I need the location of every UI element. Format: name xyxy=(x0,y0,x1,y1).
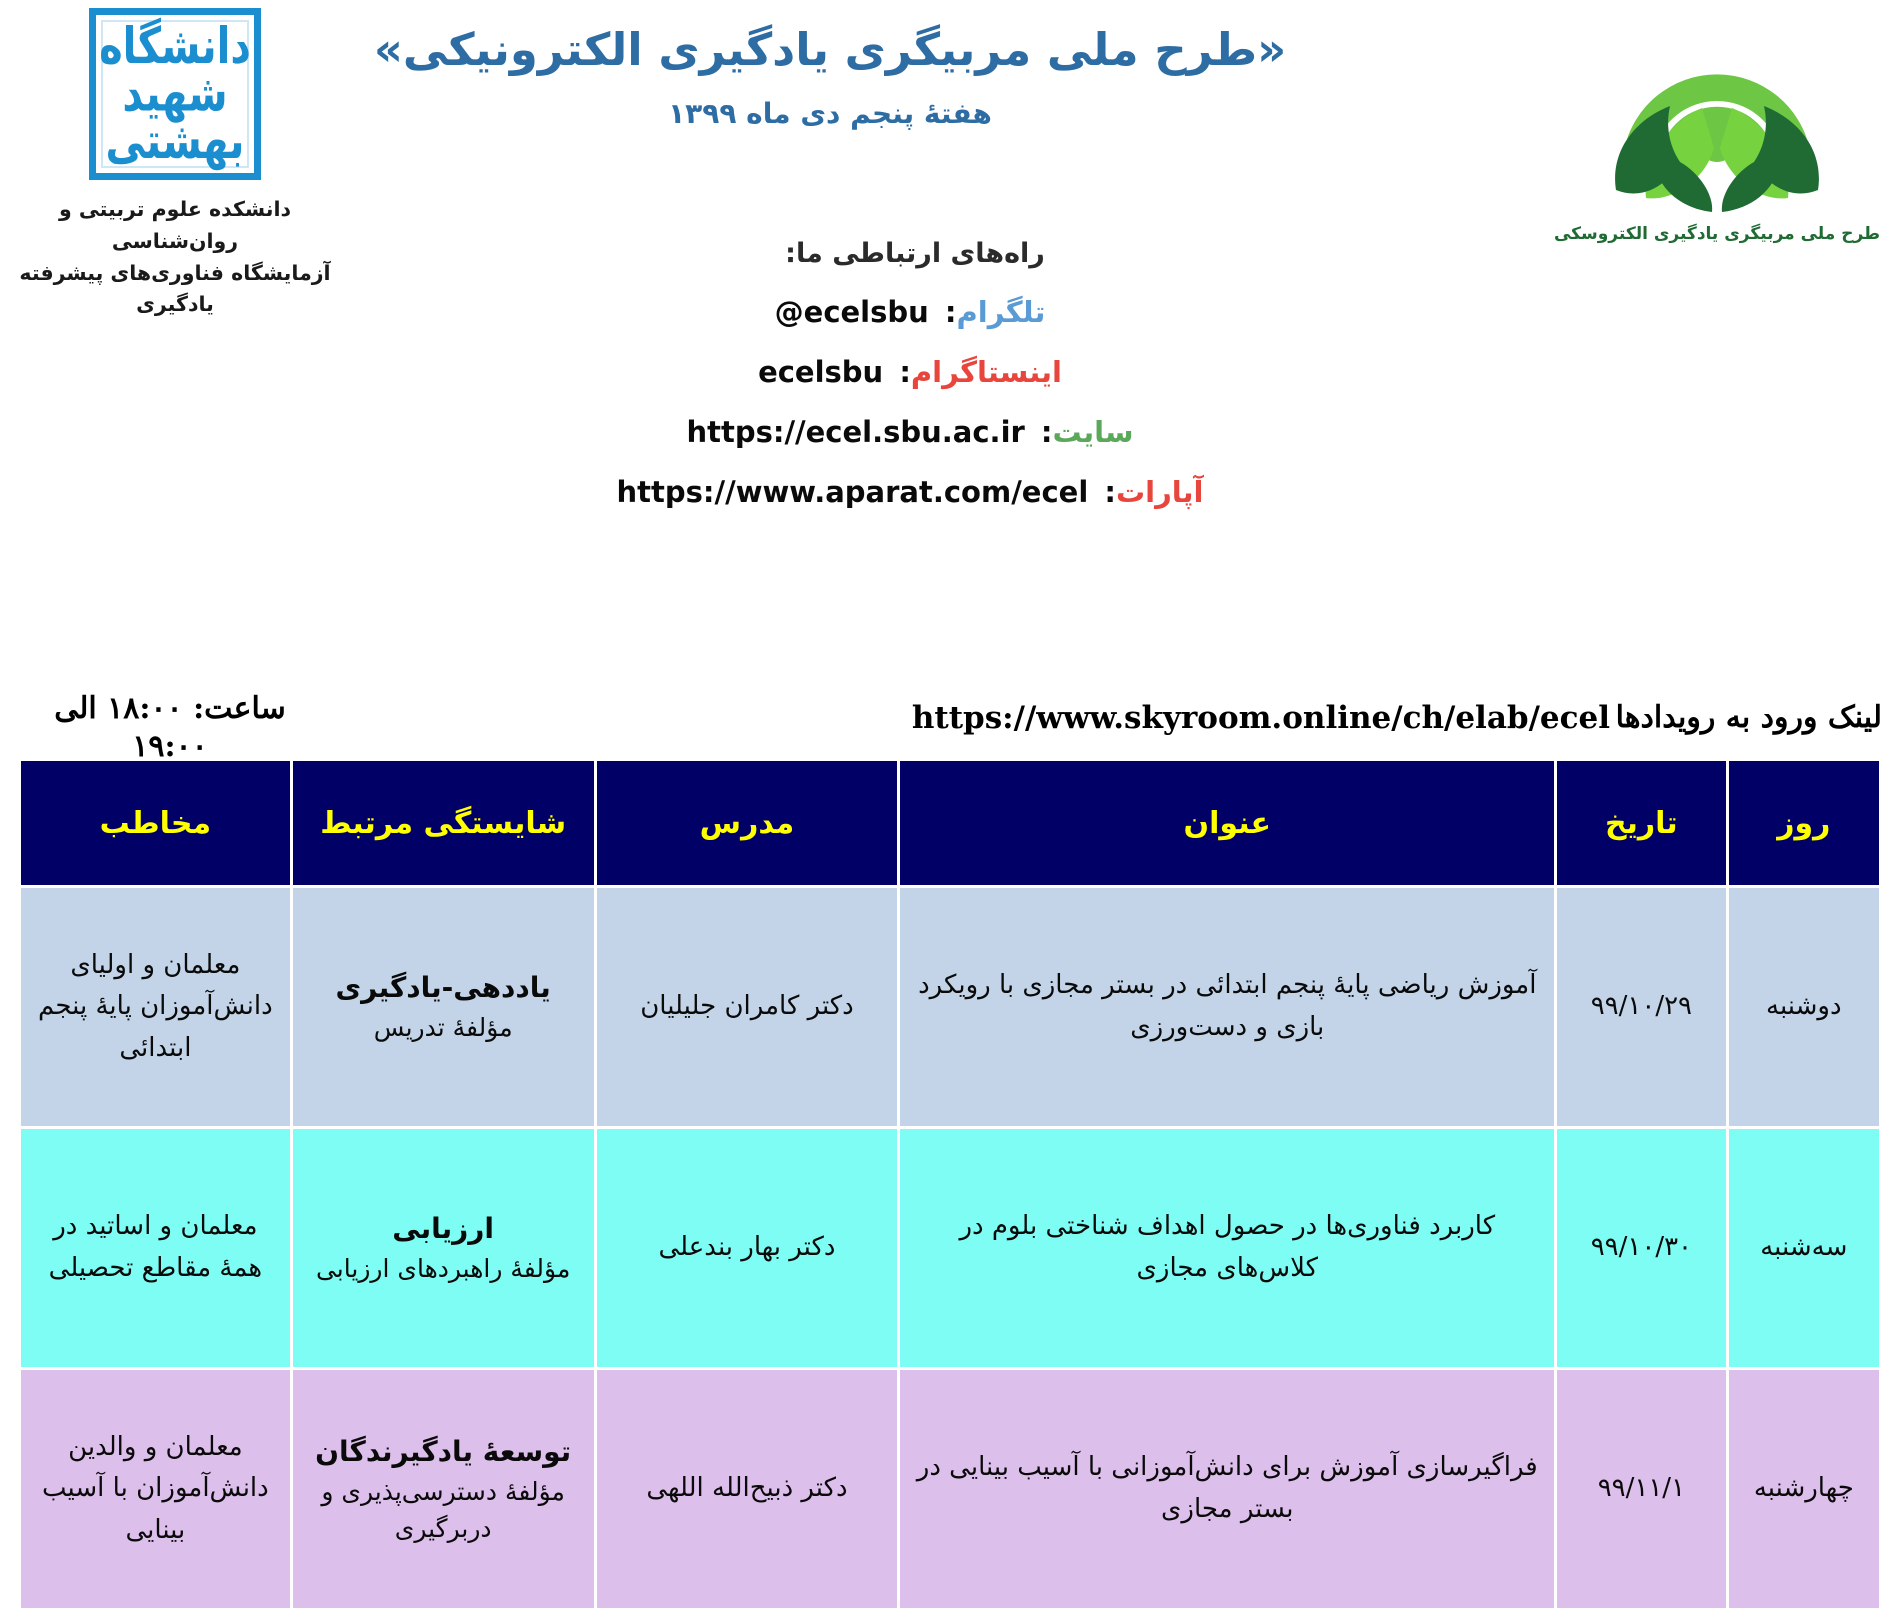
event-link-label: لینک ورود به رویدادها xyxy=(1616,700,1882,735)
sbu-logo-calligraphy: دانشگاه شهید بهشتی xyxy=(101,20,249,168)
cell-audience: معلمان و اساتید در همۀ مقاطع تحصیلی xyxy=(21,1129,290,1367)
cell-title: کاربرد فناوری‌ها در حصول اهداف شناختی بل… xyxy=(900,1129,1554,1367)
sbu-logo-icon: دانشگاه شهید بهشتی xyxy=(89,8,261,180)
cell-competency: یاددهی-یادگیری مؤلفۀ تدریس xyxy=(293,888,594,1126)
contact-row-instagram: اینستاگرام: ecelsbu xyxy=(0,355,1900,389)
cell-competency: ارزیابی مؤلفۀ راهبردهای ارزیابی xyxy=(293,1129,594,1367)
contact-block: راه‌های ارتباطی ما: تلگرام: @ecelsbu این… xyxy=(0,238,1900,509)
cell-title: آموزش ریاضی پایۀ پنجم ابتدائی در بستر مج… xyxy=(900,888,1554,1126)
table-row: دوشنبه ۹۹/۱۰/۲۹ آموزش ریاضی پایۀ پنجم اب… xyxy=(21,888,1879,1126)
contact-sep-instagram: : xyxy=(899,355,911,389)
ecel-logo-icon xyxy=(1594,12,1840,218)
event-time: ساعت: ۱۸:۰۰ الی ۱۹:۰۰ xyxy=(20,690,320,765)
page-subtitle: هفتۀ پنجم دی ماه ۱۳۹۹ xyxy=(360,97,1300,130)
competency-sub: مؤلفۀ راهبردهای ارزیابی xyxy=(305,1250,582,1288)
contact-label-instagram: اینستاگرام xyxy=(911,355,1062,389)
poster-header: دانشگاه شهید بهشتی دانشکده علوم تربیتی و… xyxy=(0,0,1900,300)
title-block: «طرح ملی مربیگری یادگیری الکترونیکی» هفت… xyxy=(360,20,1300,130)
competency-main: یاددهی-یادگیری xyxy=(305,967,582,1009)
column-header-date[interactable]: تاریخ xyxy=(1557,761,1725,885)
contact-sep-aparat: : xyxy=(1104,475,1116,509)
cell-teacher: دکتر بهار بندعلی xyxy=(597,1129,898,1367)
contact-label-site: سایت xyxy=(1053,415,1134,449)
contact-value-instagram[interactable]: ecelsbu xyxy=(758,355,883,389)
column-header-competency[interactable]: شایستگی مرتبط xyxy=(293,761,594,885)
contact-label-aparat: آپارات xyxy=(1116,475,1204,509)
cell-audience: معلمان و والدین دانش‌آموزان با آسیب بینا… xyxy=(21,1370,290,1608)
cell-teacher: دکتر ذبیح‌الله اللهی xyxy=(597,1370,898,1608)
contact-heading: راه‌های ارتباطی ما: xyxy=(0,238,1900,269)
cell-day: دوشنبه xyxy=(1729,888,1879,1126)
cell-date: ۹۹/۱۰/۳۰ xyxy=(1557,1129,1725,1367)
competency-main: توسعۀ یادگیرندگان xyxy=(305,1431,582,1473)
contact-sep-telegram: : xyxy=(945,295,957,329)
contact-value-aparat[interactable]: https://www.aparat.com/ecel xyxy=(617,475,1089,509)
sbu-logo-text: دانشگاه شهید بهشتی xyxy=(99,23,251,166)
contact-label-telegram: تلگرام xyxy=(957,295,1046,329)
cell-date: ۹۹/۱۱/۱ xyxy=(1557,1370,1725,1608)
table-header-row: روز تاریخ عنوان مدرس شایستگی مرتبط مخاطب xyxy=(21,761,1879,885)
table-row: چهارشنبه ۹۹/۱۱/۱ فراگیرسازی آموزش برای د… xyxy=(21,1370,1879,1608)
column-header-title[interactable]: عنوان xyxy=(900,761,1554,885)
cell-audience: معلمان و اولیای دانش‌آموزان پایۀ پنجم اب… xyxy=(21,888,290,1126)
cell-date: ۹۹/۱۰/۲۹ xyxy=(1557,888,1725,1126)
table-row: سه‌شنبه ۹۹/۱۰/۳۰ کاربرد فناوری‌ها در حصو… xyxy=(21,1129,1879,1367)
event-link-url[interactable]: https://www.skyroom.online/ch/elab/ecel xyxy=(912,700,1610,736)
cell-competency: توسعۀ یادگیرندگان مؤلفۀ دسترسی‌پذیری و د… xyxy=(293,1370,594,1608)
cell-day: چهارشنبه xyxy=(1729,1370,1879,1608)
page-title: «طرح ملی مربیگری یادگیری الکترونیکی» xyxy=(360,20,1300,81)
column-header-day[interactable]: روز xyxy=(1729,761,1879,885)
column-header-teacher[interactable]: مدرس xyxy=(597,761,898,885)
competency-sub: مؤلفۀ دسترسی‌پذیری و دربرگیری xyxy=(305,1473,582,1548)
column-header-audience[interactable]: مخاطب xyxy=(21,761,290,885)
schedule-table: روز تاریخ عنوان مدرس شایستگی مرتبط مخاطب… xyxy=(18,758,1882,1611)
ecel-logo-block: طرح ملی مربیگری یادگیری الکتروسکی xyxy=(1552,12,1882,244)
contact-value-telegram[interactable]: @ecelsbu xyxy=(775,295,929,329)
contact-row-telegram: تلگرام: @ecelsbu xyxy=(0,295,1900,329)
cell-title: فراگیرسازی آموزش برای دانش‌آموزانی با آس… xyxy=(900,1370,1554,1608)
competency-sub: مؤلفۀ تدریس xyxy=(305,1009,582,1047)
contact-value-site[interactable]: https://ecel.sbu.ac.ir xyxy=(686,415,1024,449)
contact-sep-site: : xyxy=(1041,415,1053,449)
cell-teacher: دکتر کامران جلیلیان xyxy=(597,888,898,1126)
contact-row-aparat: آپارات: https://www.aparat.com/ecel xyxy=(0,475,1900,509)
meta-bar: ساعت: ۱۸:۰۰ الی ۱۹:۰۰ لینک ورود به رویدا… xyxy=(0,690,1900,750)
competency-main: ارزیابی xyxy=(305,1208,582,1250)
contact-row-site: سایت: https://ecel.sbu.ac.ir xyxy=(0,415,1900,449)
cell-day: سه‌شنبه xyxy=(1729,1129,1879,1367)
schedule-table-wrap: روز تاریخ عنوان مدرس شایستگی مرتبط مخاطب… xyxy=(18,758,1882,1611)
